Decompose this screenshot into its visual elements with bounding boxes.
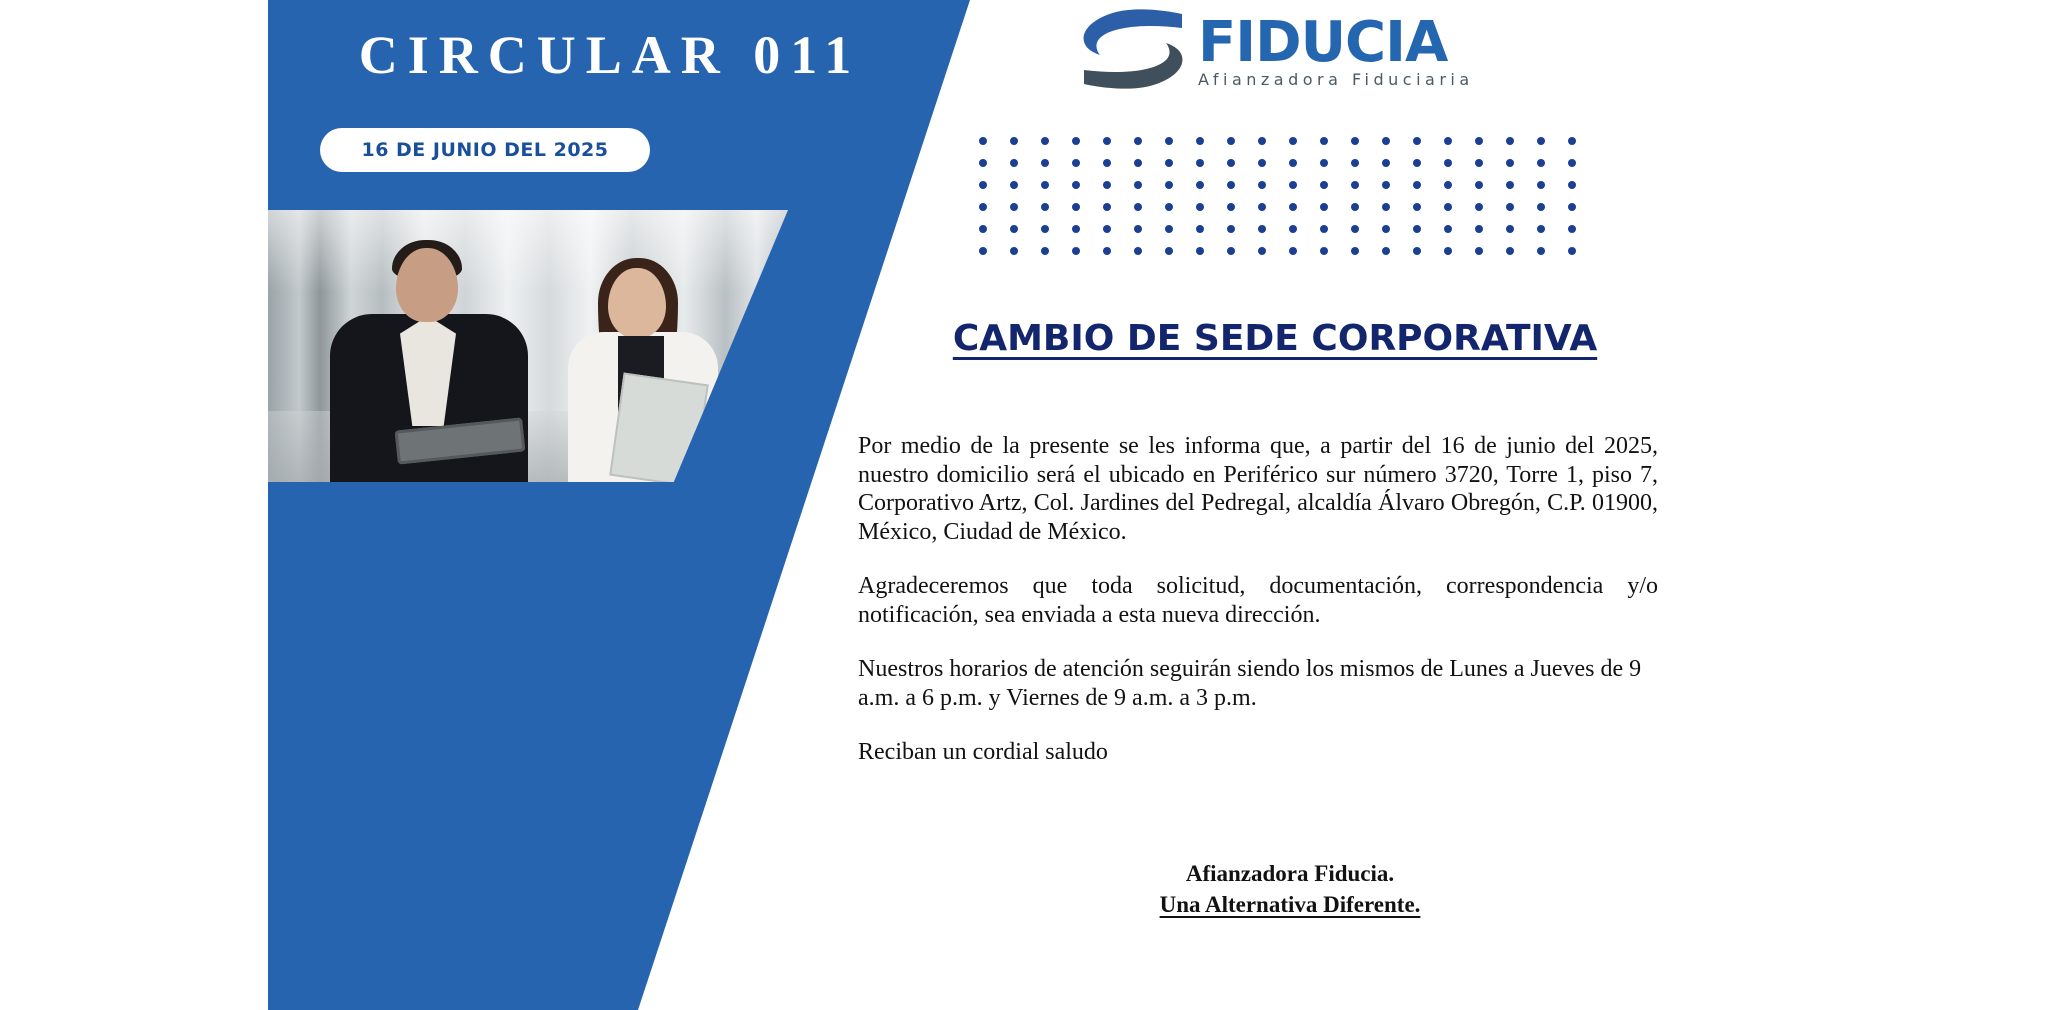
circular-poster: CIRCULAR 011 16 DE JUNIO DEL 2025 — [0, 0, 2052, 1010]
body-copy: Por medio de la presente se les informa … — [858, 432, 1658, 767]
body-paragraph-1: Por medio de la presente se les informa … — [858, 432, 1658, 546]
section-headline: CAMBIO DE SEDE CORPORATIVA — [895, 318, 1655, 359]
logo-wordmark: FIDUCIA Afianzadora Fiduciaria — [1198, 14, 1548, 90]
logo-tagline: Afianzadora Fiduciaria — [1198, 70, 1548, 90]
hero-photo — [268, 210, 788, 482]
page-title: CIRCULAR 011 — [300, 20, 920, 90]
signature-line-2: Una Alternativa Diferente. — [1000, 889, 1580, 920]
date-badge: 16 DE JUNIO DEL 2025 — [320, 128, 650, 172]
date-badge-label: 16 DE JUNIO DEL 2025 — [361, 139, 608, 161]
body-paragraph-3: Nuestros horarios de atención seguirán s… — [858, 655, 1658, 712]
body-paragraph-4: Reciban un cordial saludo — [858, 738, 1658, 767]
signature-block: Afianzadora Fiducia. Una Alternativa Dif… — [1000, 858, 1580, 920]
person-man-head — [396, 248, 458, 322]
fiducia-s-mark-icon — [1078, 6, 1186, 92]
company-logo: FIDUCIA Afianzadora Fiduciaria — [1078, 6, 1548, 94]
person-woman-head — [608, 268, 666, 338]
body-paragraph-2: Agradeceremos que toda solicitud, docume… — [858, 572, 1658, 629]
dot-grid-decoration — [975, 133, 1595, 273]
office-corridor-background — [268, 210, 788, 482]
person-woman-folder — [609, 373, 709, 482]
logo-name: FIDUCIA — [1198, 14, 1548, 72]
signature-line-1: Afianzadora Fiducia. — [1000, 858, 1580, 889]
